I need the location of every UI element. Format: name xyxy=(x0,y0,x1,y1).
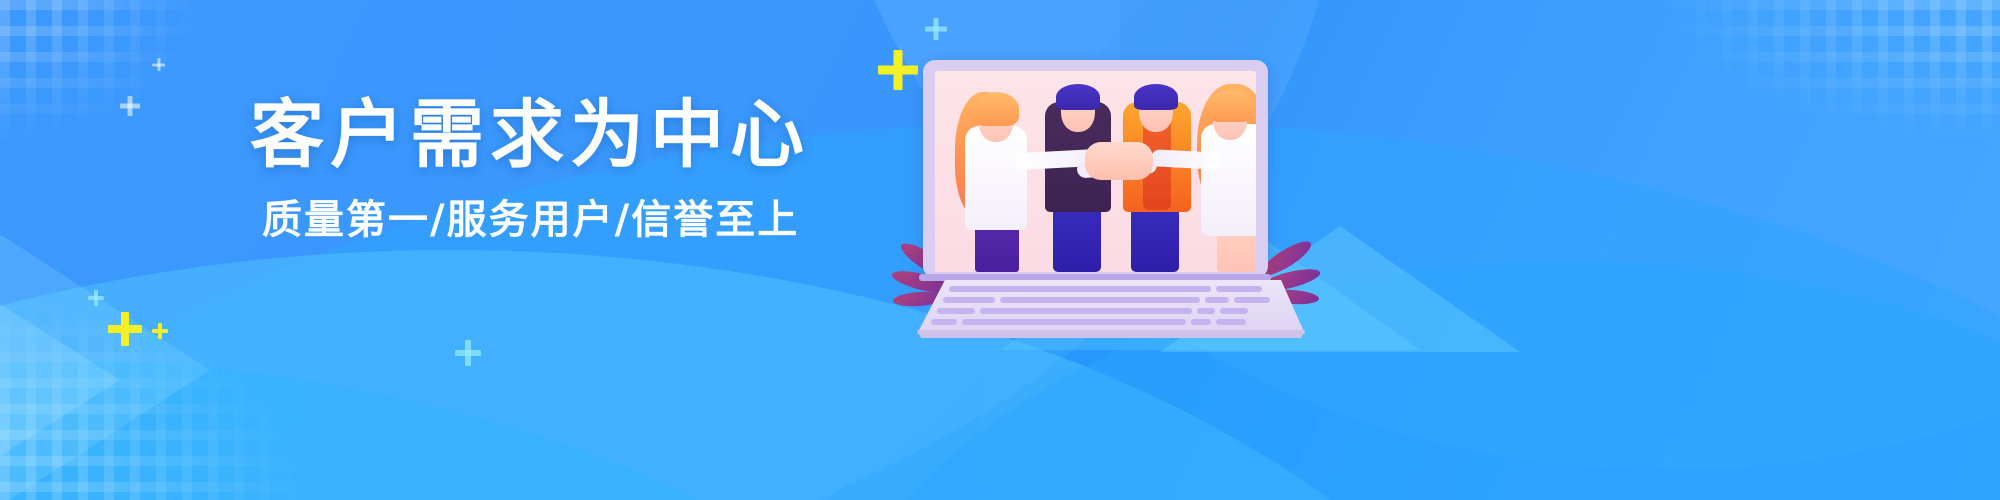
banner-subheadline: 质量第一/服务用户/信誉至上 xyxy=(262,200,870,240)
person-man-right-hair xyxy=(1134,84,1178,110)
dot-grid-top-right xyxy=(1670,0,2000,140)
plus-icon-cyan-medium xyxy=(455,340,481,366)
laptop-base xyxy=(905,274,1305,340)
arm-woman-right xyxy=(1151,149,1222,170)
plus-icon-cyan-tiny xyxy=(88,290,104,306)
laptop-screen xyxy=(935,71,1256,272)
keyboard-row-1 xyxy=(949,286,1262,292)
person-woman-right-body xyxy=(1201,124,1256,236)
keyboard-row-4 xyxy=(931,319,1246,325)
promo-banner: 客户需求为中心 质量第一/服务用户/信誉至上 xyxy=(0,0,2000,500)
person-woman-left-hair-front xyxy=(973,92,1019,126)
dot-grid-bottom-left xyxy=(0,300,300,500)
plus-icon-white-medium xyxy=(120,96,140,116)
laptop-base-edge xyxy=(905,330,1305,338)
stacked-hands xyxy=(1085,142,1153,180)
laptop-keyboard-deck xyxy=(905,280,1305,334)
laptop-illustration xyxy=(905,60,1305,360)
plus-icon-yellow-medium xyxy=(108,312,142,346)
person-man-left-hair xyxy=(1056,84,1100,110)
plus-icon-yellow-small xyxy=(152,323,168,339)
person-woman-right-hair-front xyxy=(1207,90,1253,122)
banner-text-block: 客户需求为中心 质量第一/服务用户/信誉至上 xyxy=(250,98,870,240)
plus-icon-white-small xyxy=(152,58,165,71)
keyboard-row-2 xyxy=(943,297,1270,303)
laptop-hinge xyxy=(919,274,1271,281)
keyboard-row-3 xyxy=(937,308,1248,314)
banner-headline: 客户需求为中心 xyxy=(250,98,870,172)
dot-grid-top-left xyxy=(0,0,200,140)
laptop-lid xyxy=(923,60,1268,278)
plus-icon-cyan-small xyxy=(925,18,947,40)
